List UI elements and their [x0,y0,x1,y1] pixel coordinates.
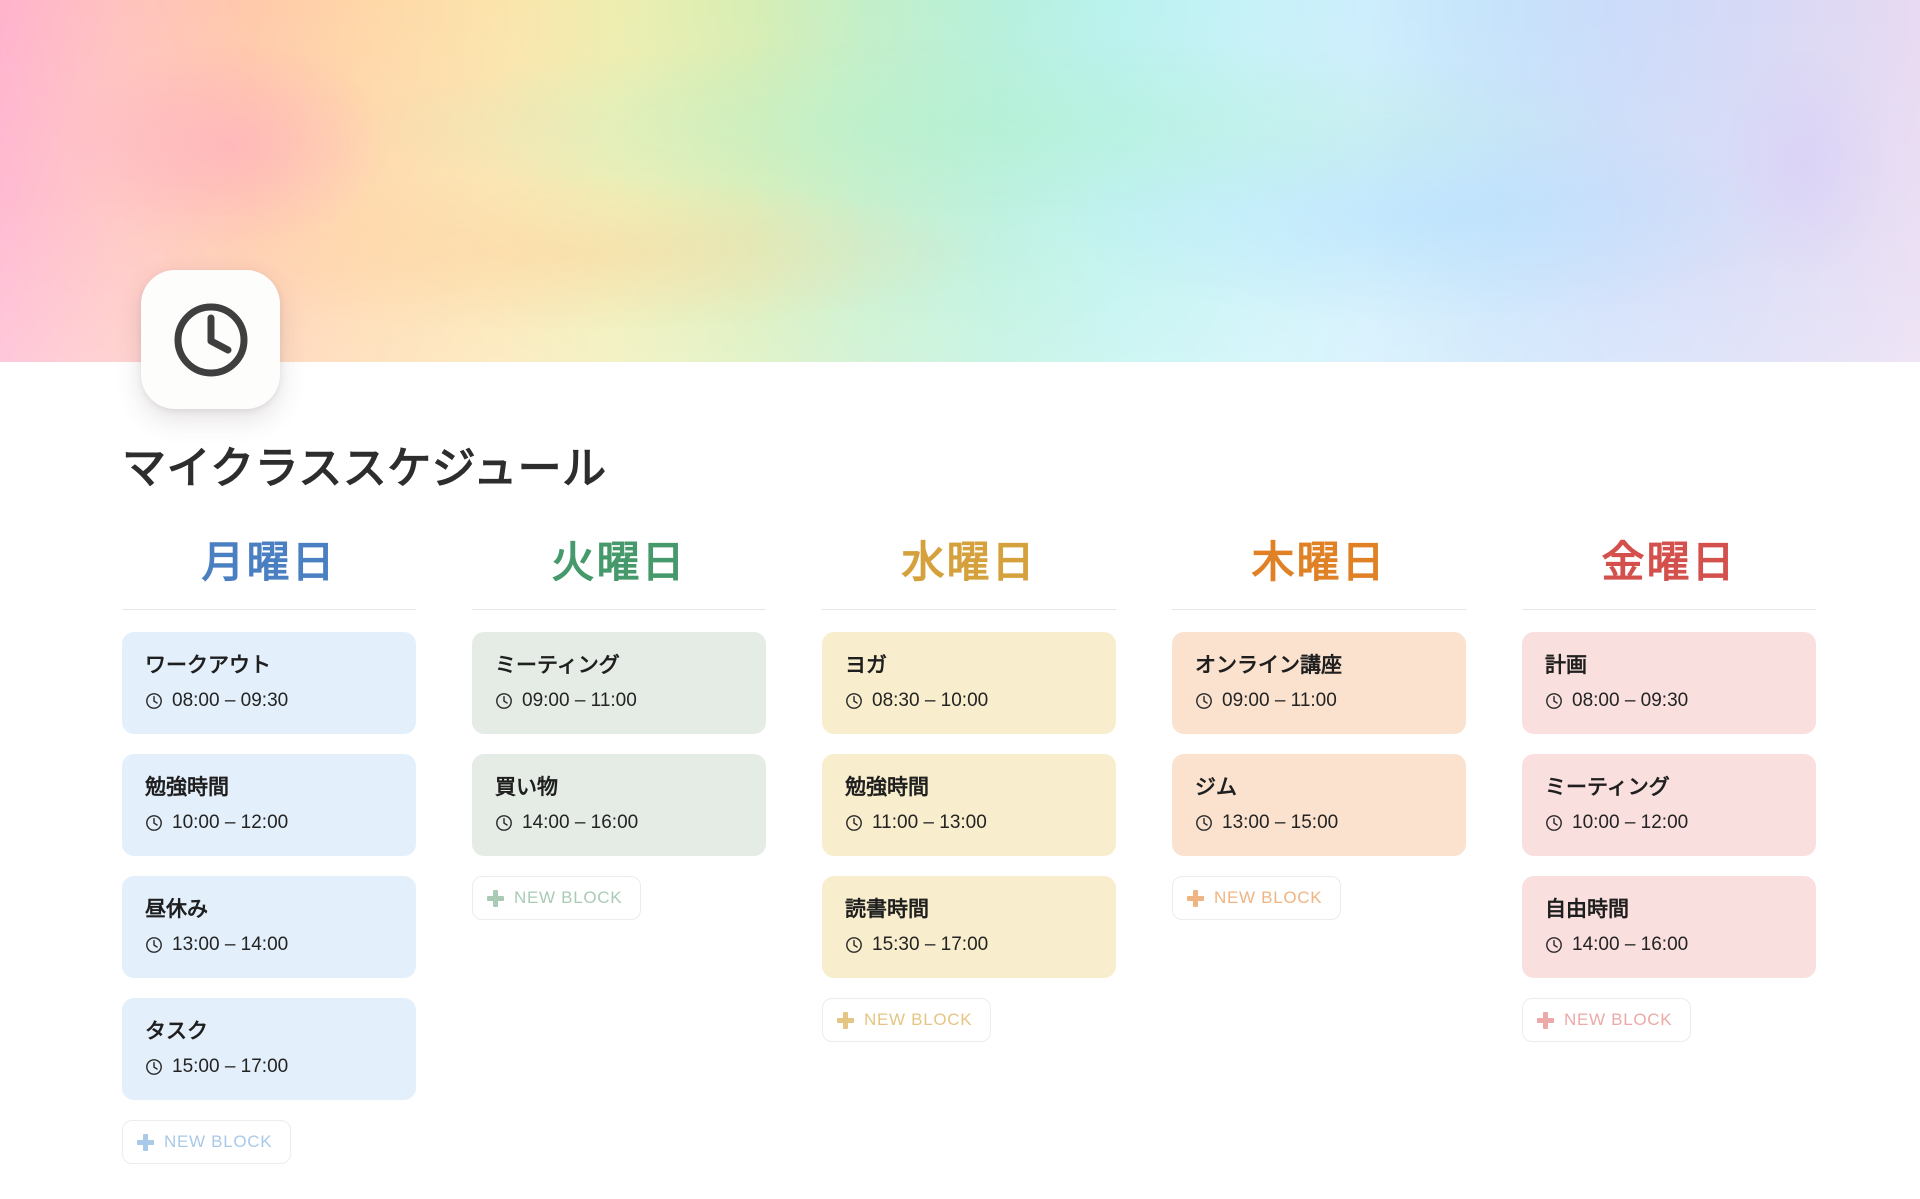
clock-icon [1545,814,1563,832]
plus-icon [137,1134,154,1151]
clock-icon [495,692,513,710]
page-content: マイクラススケジュール 月曜日ワークアウト08:00 – 09:30勉強時間10… [0,362,1920,1164]
clock-icon [1195,814,1213,832]
schedule-block[interactable]: ミーティング09:00 – 11:00 [472,632,766,734]
schedule-block-time: 15:30 – 17:00 [872,934,988,957]
schedule-block-time-row: 10:00 – 12:00 [1545,812,1793,835]
new-block-button[interactable]: NEW BLOCK [122,1120,291,1164]
schedule-block-time: 08:00 – 09:30 [1572,690,1688,713]
clock-icon [845,814,863,832]
schedule-block-title: オンライン講座 [1195,653,1443,679]
new-block-button[interactable]: NEW BLOCK [472,876,641,920]
schedule-block-list: ワークアウト08:00 – 09:30勉強時間10:00 – 12:00昼休み1… [122,632,416,1120]
schedule-block-time-row: 08:30 – 10:00 [845,690,1093,713]
schedule-block-time: 13:00 – 15:00 [1222,812,1338,835]
schedule-block-title: 自由時間 [1545,897,1793,923]
schedule-block[interactable]: タスク15:00 – 17:00 [122,998,416,1100]
schedule-block[interactable]: 自由時間14:00 – 16:00 [1522,876,1816,978]
schedule-block-time: 10:00 – 12:00 [1572,812,1688,835]
schedule-block-list: ミーティング09:00 – 11:00買い物14:00 – 16:00 [472,632,766,876]
day-column: 金曜日計画08:00 – 09:30ミーティング10:00 – 12:00自由時… [1522,540,1816,1164]
schedule-block-time-row: 11:00 – 13:00 [845,812,1093,835]
schedule-block-title: ヨガ [845,653,1093,679]
clock-icon [1545,692,1563,710]
schedule-block-time: 15:00 – 17:00 [172,1056,288,1079]
clock-icon [145,814,163,832]
schedule-block-time: 13:00 – 14:00 [172,934,288,957]
new-block-button[interactable]: NEW BLOCK [1522,998,1691,1042]
schedule-block[interactable]: 昼休み13:00 – 14:00 [122,876,416,978]
schedule-block-time: 11:00 – 13:00 [872,812,987,835]
clock-icon [145,936,163,954]
schedule-block[interactable]: 計画08:00 – 09:30 [1522,632,1816,734]
schedule-block[interactable]: 勉強時間11:00 – 13:00 [822,754,1116,856]
schedule-block-title: 昼休み [145,897,393,923]
plus-icon [1537,1012,1554,1029]
page-title: マイクラススケジュール [122,441,1798,496]
schedule-block[interactable]: 買い物14:00 – 16:00 [472,754,766,856]
day-header: 火曜日 [472,540,766,609]
schedule-block-time-row: 09:00 – 11:00 [495,690,743,713]
schedule-block-time: 14:00 – 16:00 [1572,934,1688,957]
day-header: 木曜日 [1172,540,1466,609]
schedule-block-time-row: 09:00 – 11:00 [1195,690,1443,713]
schedule-block-time-row: 10:00 – 12:00 [145,812,393,835]
clock-icon [845,692,863,710]
schedule-block-title: ミーティング [1545,775,1793,801]
schedule-block-title: 計画 [1545,653,1793,679]
schedule-block-time: 10:00 – 12:00 [172,812,288,835]
new-block-label: NEW BLOCK [864,1010,972,1030]
new-block-button[interactable]: NEW BLOCK [822,998,991,1042]
clock-icon [1195,692,1213,710]
clock-icon [141,270,280,409]
day-header: 月曜日 [122,540,416,609]
day-header: 水曜日 [822,540,1116,609]
schedule-block-title: ワークアウト [145,653,393,679]
schedule-block-title: 勉強時間 [845,775,1093,801]
schedule-block-time: 14:00 – 16:00 [522,812,638,835]
schedule-block-title: ミーティング [495,653,743,679]
schedule-block-time-row: 15:00 – 17:00 [145,1056,393,1079]
schedule-block-time: 08:30 – 10:00 [872,690,988,713]
day-header-divider [472,609,766,610]
plus-icon [487,890,504,907]
banner-color-wash [0,0,1920,362]
new-block-button[interactable]: NEW BLOCK [1172,876,1341,920]
clock-icon [495,814,513,832]
schedule-block-title: 勉強時間 [145,775,393,801]
schedule-block-list: オンライン講座09:00 – 11:00ジム13:00 – 15:00 [1172,632,1466,876]
schedule-block-title: 読書時間 [845,897,1093,923]
schedule-block[interactable]: オンライン講座09:00 – 11:00 [1172,632,1466,734]
day-header-divider [122,609,416,610]
schedule-block-time: 09:00 – 11:00 [522,690,637,713]
week-grid: 月曜日ワークアウト08:00 – 09:30勉強時間10:00 – 12:00昼… [122,540,1798,1164]
schedule-block[interactable]: ジム13:00 – 15:00 [1172,754,1466,856]
day-column: 木曜日オンライン講座09:00 – 11:00ジム13:00 – 15:00NE… [1172,540,1466,1164]
schedule-block-time-row: 08:00 – 09:30 [1545,690,1793,713]
day-column: 火曜日ミーティング09:00 – 11:00買い物14:00 – 16:00NE… [472,540,766,1164]
schedule-block[interactable]: 勉強時間10:00 – 12:00 [122,754,416,856]
schedule-block-time-row: 15:30 – 17:00 [845,934,1093,957]
schedule-block-time-row: 14:00 – 16:00 [495,812,743,835]
schedule-block-list: 計画08:00 – 09:30ミーティング10:00 – 12:00自由時間14… [1522,632,1816,998]
schedule-block-time-row: 08:00 – 09:30 [145,690,393,713]
new-block-label: NEW BLOCK [1214,888,1322,908]
day-header-divider [1172,609,1466,610]
schedule-block[interactable]: ヨガ08:30 – 10:00 [822,632,1116,734]
day-column: 月曜日ワークアウト08:00 – 09:30勉強時間10:00 – 12:00昼… [122,540,416,1164]
new-block-label: NEW BLOCK [1564,1010,1672,1030]
clock-icon [845,936,863,954]
clock-icon [145,1058,163,1076]
new-block-label: NEW BLOCK [164,1132,272,1152]
schedule-block-time: 09:00 – 11:00 [1222,690,1337,713]
day-header: 金曜日 [1522,540,1816,609]
schedule-block-time-row: 13:00 – 14:00 [145,934,393,957]
schedule-block-title: ジム [1195,775,1443,801]
header-gradient-banner [0,0,1920,362]
plus-icon [837,1012,854,1029]
day-header-divider [1522,609,1816,610]
schedule-block-title: タスク [145,1019,393,1045]
plus-icon [1187,890,1204,907]
schedule-block-list: ヨガ08:30 – 10:00勉強時間11:00 – 13:00読書時間15:3… [822,632,1116,998]
schedule-block[interactable]: ミーティング10:00 – 12:00 [1522,754,1816,856]
schedule-block-title: 買い物 [495,775,743,801]
schedule-block-time: 08:00 – 09:30 [172,690,288,713]
schedule-block[interactable]: 読書時間15:30 – 17:00 [822,876,1116,978]
clock-icon [145,692,163,710]
schedule-block-time-row: 13:00 – 15:00 [1195,812,1443,835]
schedule-block-time-row: 14:00 – 16:00 [1545,934,1793,957]
schedule-page: マイクラススケジュール 月曜日ワークアウト08:00 – 09:30勉強時間10… [0,0,1920,1199]
day-header-divider [822,609,1116,610]
day-column: 水曜日ヨガ08:30 – 10:00勉強時間11:00 – 13:00読書時間1… [822,540,1116,1164]
new-block-label: NEW BLOCK [514,888,622,908]
clock-icon [1545,936,1563,954]
schedule-block[interactable]: ワークアウト08:00 – 09:30 [122,632,416,734]
